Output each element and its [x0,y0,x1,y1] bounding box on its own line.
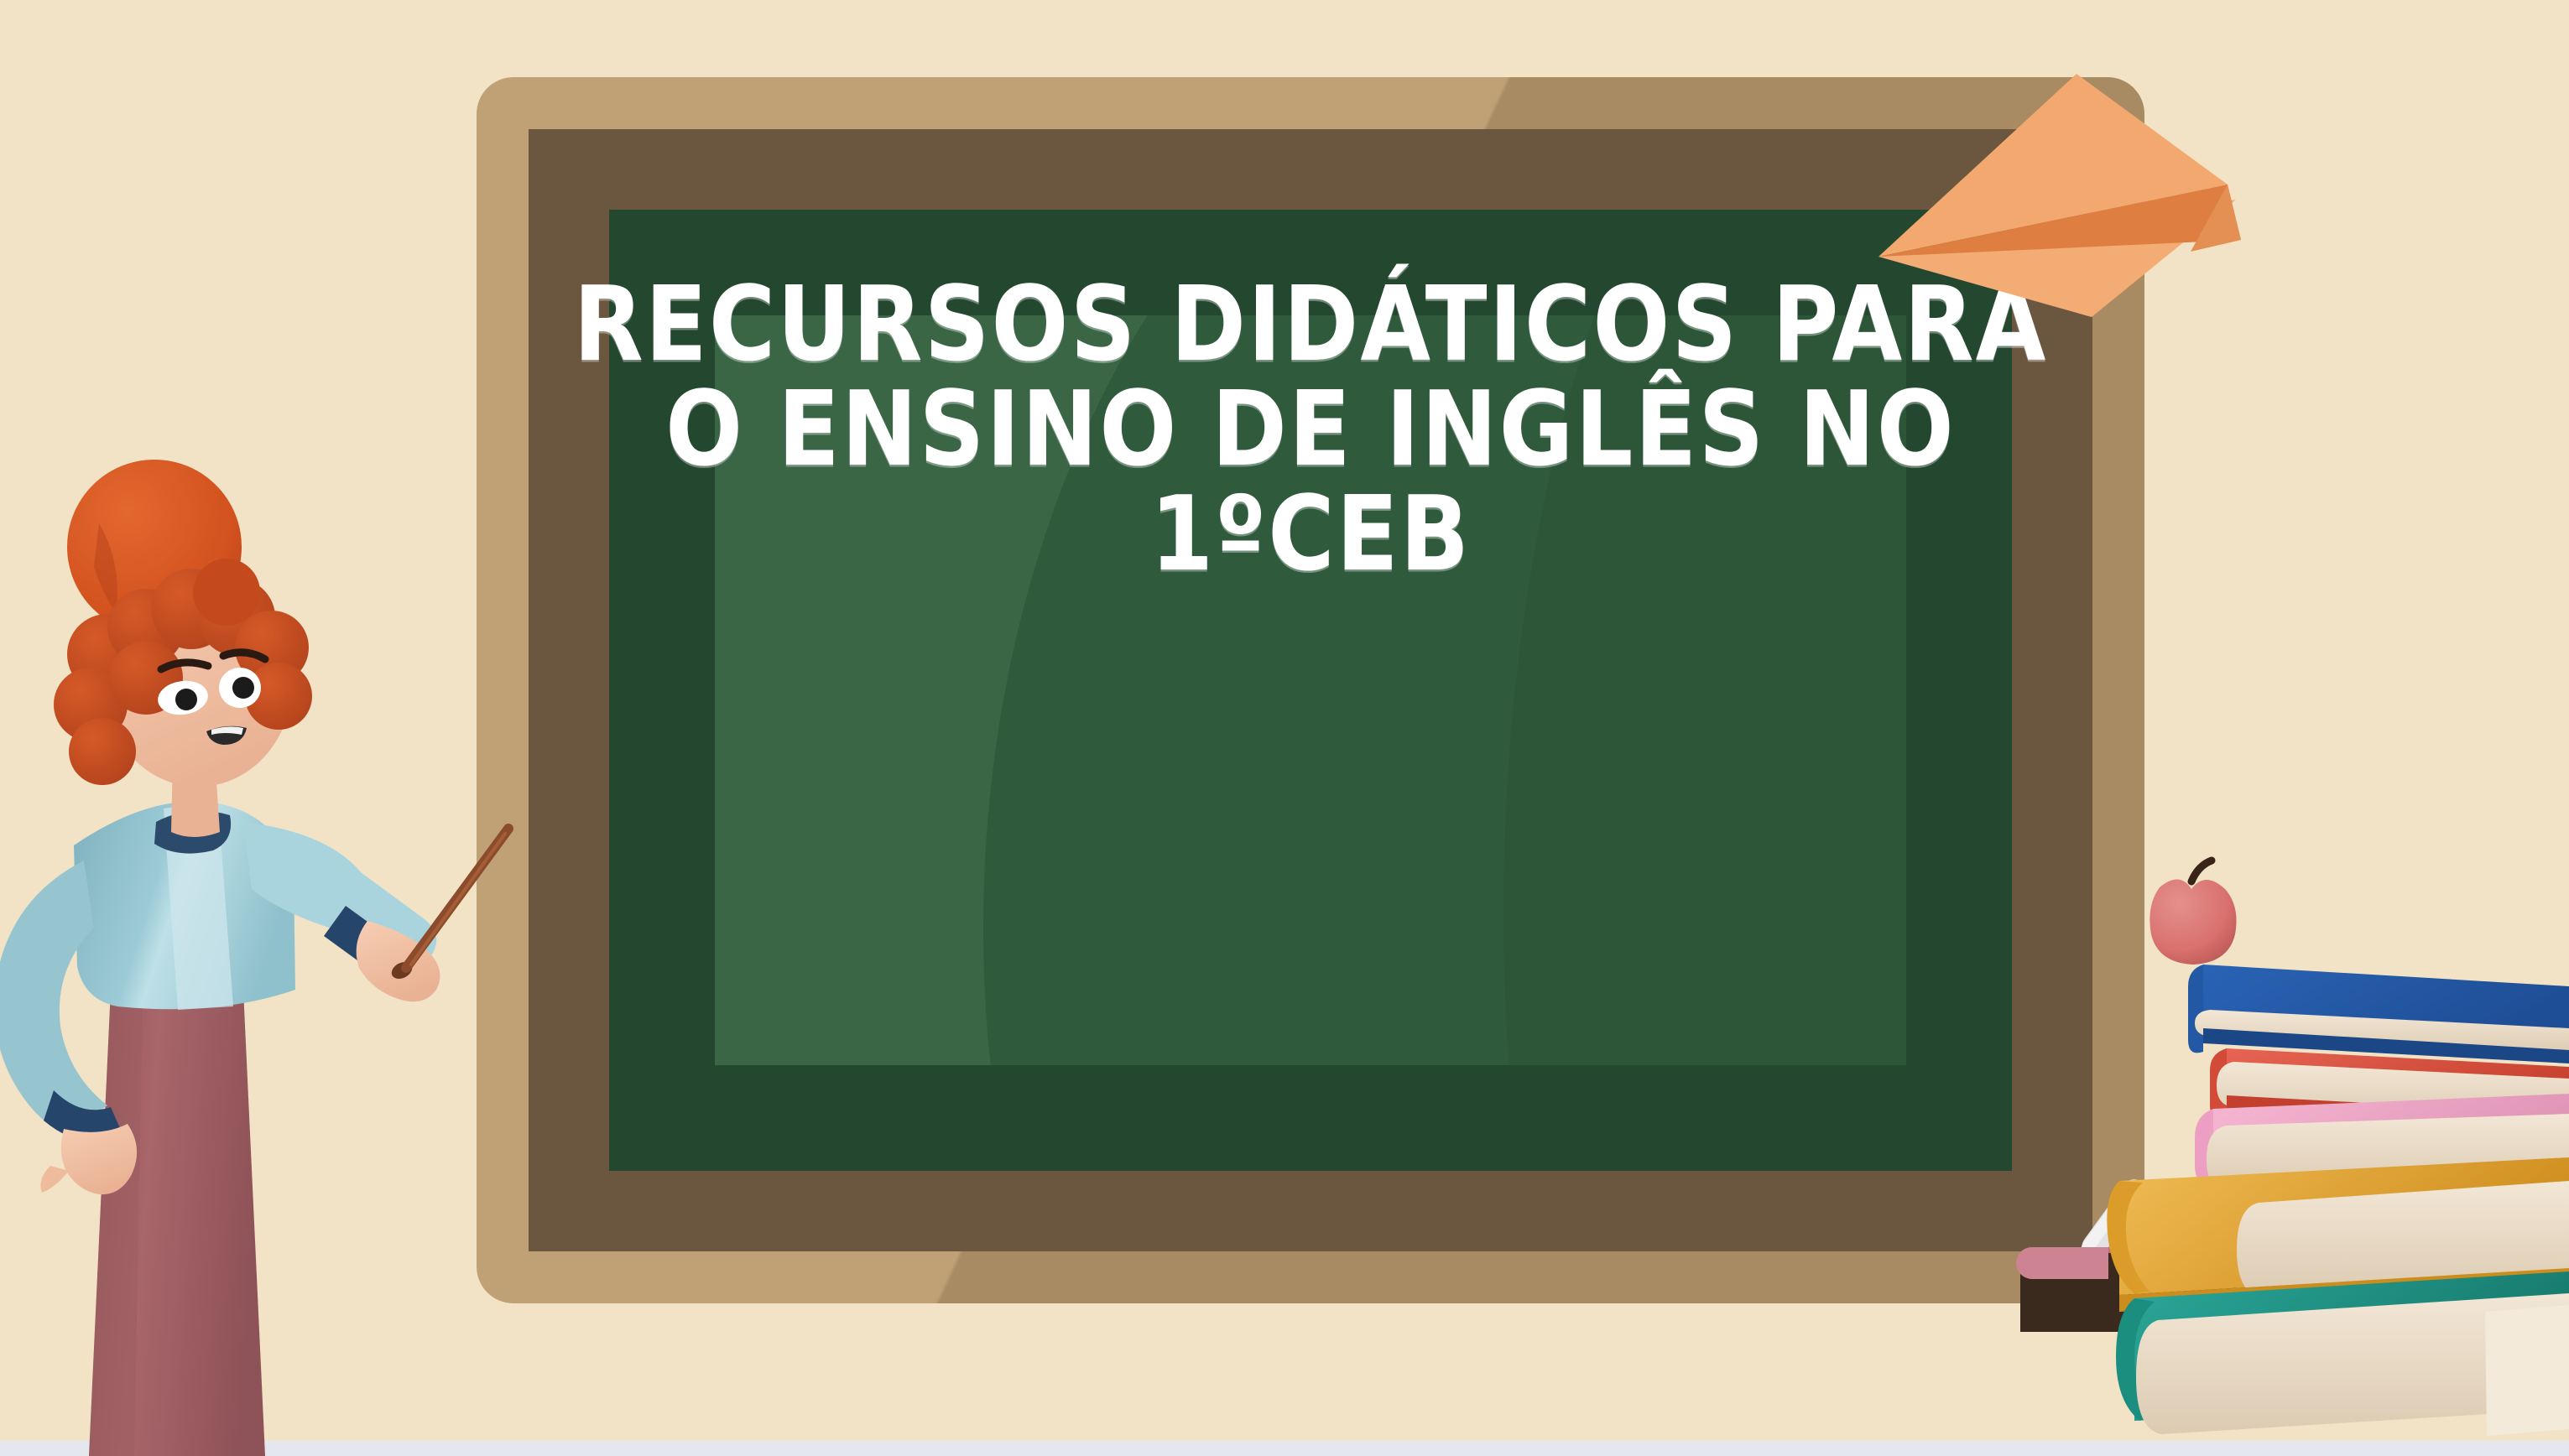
book-stack [2099,842,2569,1441]
page-title-line-3: 1ºCEB [565,481,2056,586]
list-item-blue-book [2188,965,2569,1063]
page-title-line-2: O ENSINO DE INGLÊS NO [565,377,2056,481]
paper-plane-icon [1867,50,2286,327]
board-eraser-highlight [2016,1247,2108,1279]
list-item-teal-book [2116,1271,2569,1436]
apple-icon [2150,861,2236,965]
slide-canvas: RECURSOS DIDÁTICOS PARA O ENSINO DE INGL… [0,0,2569,1456]
page-title-line-1: RECURSOS DIDÁTICOS PARA [565,272,2056,377]
teacher-character [0,453,604,1456]
